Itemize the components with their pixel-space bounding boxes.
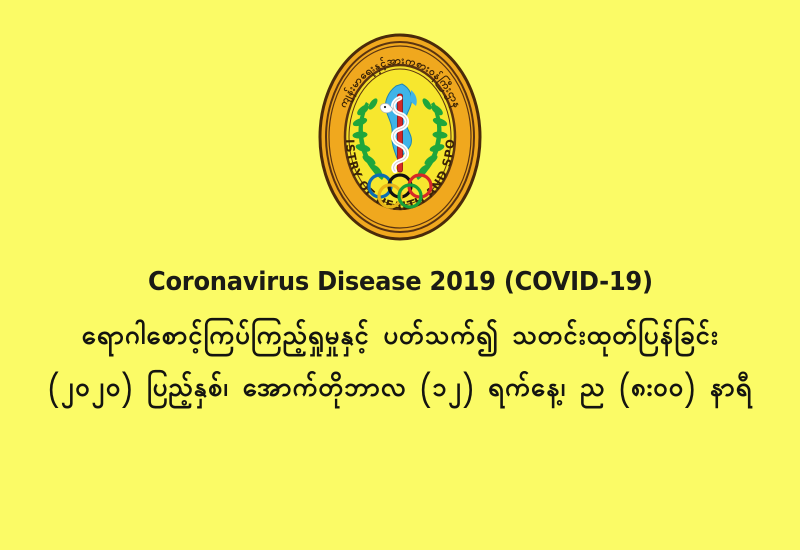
- subtitle-burmese-surveillance: ရောဂါစောင့်ကြပ်ကြည့်ရှုမှုနှင့် ပတ်သက်၍ …: [81, 320, 719, 356]
- announcement-text-block: Coronavirus Disease 2019 (COVID-19) ရောဂ…: [0, 268, 800, 409]
- datetime-burmese: (၂၀၂၀) ပြည့်နှစ်၊ အောက်တိုဘာလ (၁၂) ရက်နေ…: [48, 372, 752, 408]
- page-title-english: Coronavirus Disease 2019 (COVID-19): [148, 268, 653, 298]
- ministry-seal-icon: ကျန်းမာရေးနှင့်အားကစားဝန်ကြီးဌာန MINISTR…: [318, 32, 482, 242]
- covid-press-release-banner: ကျန်းမာရေးနှင့်အားကစားဝန်ကြီးဌာန MINISTR…: [0, 0, 800, 550]
- ministry-emblem: ကျန်းမာရေးနှင့်အားကစားဝန်ကြီးဌာန MINISTR…: [318, 32, 482, 242]
